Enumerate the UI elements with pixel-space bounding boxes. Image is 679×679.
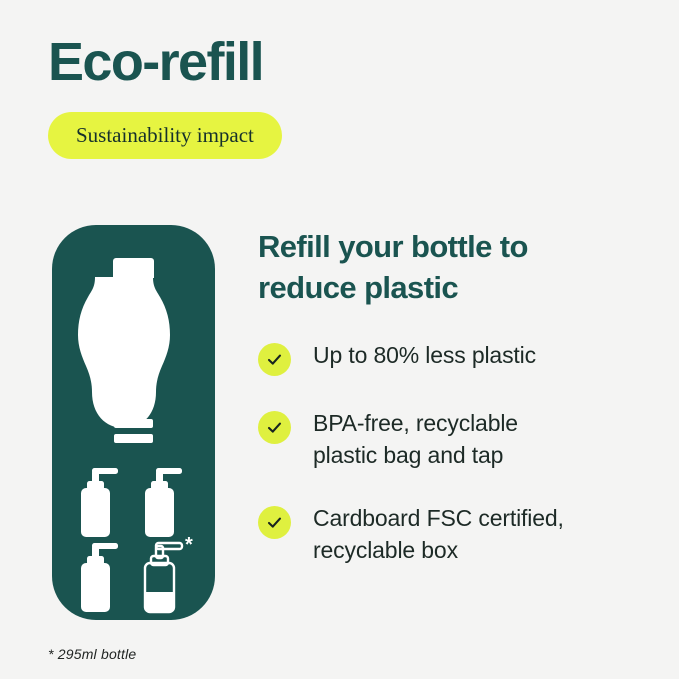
content-heading-line-1: Refill your bottle to [258,229,528,264]
asterisk-marker-icon: * [185,534,193,556]
check-icon [258,343,291,376]
list-item-line-1: Cardboard FSC certified, [313,505,564,531]
list-item: BPA-free, recyclable plastic bag and tap [258,407,666,471]
pump-bottle-icon-2 [145,468,182,537]
refill-equivalence-illustration: * [52,225,215,620]
list-item: Cardboard FSC certified, recyclable box [258,502,666,566]
page-title: Eco-refill [48,33,263,91]
pump-bottle-icon-1 [81,468,118,537]
list-item-label: BPA-free, recyclable plastic bag and tap [313,407,518,471]
list-item-line-1: Up to 80% less plastic [313,342,536,368]
check-icon [258,506,291,539]
pump-bottle-icon-3 [81,543,118,612]
eco-refill-infographic: Eco-refill Sustainability impact [0,0,679,679]
list-item: Up to 80% less plastic [258,339,666,376]
list-item-line-2: recyclable box [313,537,458,563]
pump-bottle-icon-4-outlined [145,543,182,612]
content-heading-line-2: reduce plastic [258,270,458,305]
illustration-graphic: * [52,225,215,620]
content-column: Refill your bottle to reduce plastic Up … [258,226,666,308]
sustainability-impact-badge: Sustainability impact [48,112,282,159]
content-heading: Refill your bottle to reduce plastic [258,226,666,308]
list-item-line-2: plastic bag and tap [313,442,503,468]
list-item-label: Up to 80% less plastic [313,339,536,371]
benefit-list: Up to 80% less plastic BPA-free, recycla… [258,339,666,566]
refill-bottle-icon [78,258,170,428]
badge-label: Sustainability impact [76,125,254,146]
equals-sign-icon [114,419,153,443]
list-item-label: Cardboard FSC certified, recyclable box [313,502,564,566]
list-item-line-1: BPA-free, recyclable [313,410,518,436]
check-icon [258,411,291,444]
footnote-text: * 295ml bottle [48,646,136,662]
